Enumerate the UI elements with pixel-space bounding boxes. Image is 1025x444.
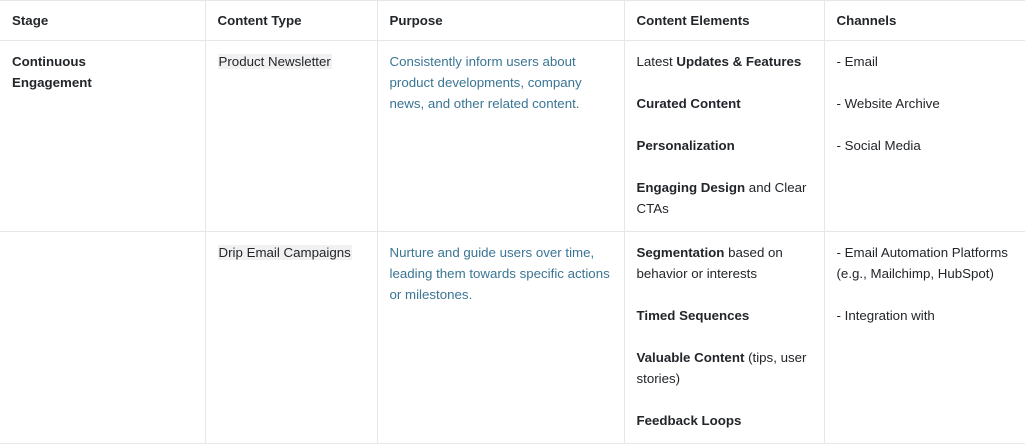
column-header-content-type: Content Type [205, 1, 377, 41]
list-item: Personalization [637, 135, 814, 156]
stage-line-1: Continuous [12, 51, 195, 72]
element-bold: Segmentation [637, 245, 725, 260]
purpose-text: Nurture and guide users over time, leadi… [390, 245, 610, 302]
cell-channels: - Email - Website Archive - Social Media [824, 41, 1025, 232]
content-elements-list: Latest Updates & Features Curated Conten… [637, 51, 814, 219]
element-bold: Feedback Loops [637, 413, 742, 428]
stage-line-2: Engagement [12, 72, 195, 93]
list-item: Feedback Loops [637, 410, 814, 431]
table-row: Drip Email Campaigns Nurture and guide u… [0, 232, 1025, 444]
cell-content-type: Drip Email Campaigns [205, 232, 377, 444]
column-header-purpose-label: Purpose [390, 13, 443, 28]
column-header-content-elements: Content Elements [624, 1, 824, 41]
list-item: - Website Archive [837, 93, 1015, 114]
cell-stage: Continuous Engagement [0, 41, 205, 232]
list-item: - Email Automation Platforms (e.g., Mail… [837, 242, 1015, 284]
element-bold: Engaging Design [637, 180, 746, 195]
column-header-channels: Channels [824, 1, 1025, 41]
table-body: Continuous Engagement Product Newsletter… [0, 41, 1025, 444]
cell-content-elements: Segmentation based on behavior or intere… [624, 232, 824, 444]
table-row: Continuous Engagement Product Newsletter… [0, 41, 1025, 232]
channels-list: - Email - Website Archive - Social Media [837, 51, 1015, 156]
list-item: Valuable Content (tips, user stories) [637, 347, 814, 389]
list-item: Latest Updates & Features [637, 51, 814, 72]
column-header-channels-label: Channels [837, 13, 897, 28]
element-bold: Valuable Content [637, 350, 745, 365]
column-header-stage-label: Stage [12, 13, 48, 28]
content-elements-list: Segmentation based on behavior or intere… [637, 242, 814, 431]
content-type-value: Product Newsletter [218, 54, 332, 69]
table-header: Stage Content Type Purpose Content Eleme… [0, 1, 1025, 41]
table-header-row: Stage Content Type Purpose Content Eleme… [0, 1, 1025, 41]
element-lead: Latest [637, 54, 677, 69]
list-item: Segmentation based on behavior or intere… [637, 242, 814, 284]
list-item: - Integration with [837, 305, 1015, 326]
cell-stage [0, 232, 205, 444]
element-bold: Personalization [637, 138, 735, 153]
element-bold: Updates & Features [676, 54, 801, 69]
list-item: - Email [837, 51, 1015, 72]
cell-content-type: Product Newsletter [205, 41, 377, 232]
list-item: Engaging Design and Clear CTAs [637, 177, 814, 219]
cell-channels: - Email Automation Platforms (e.g., Mail… [824, 232, 1025, 444]
column-header-content-type-label: Content Type [218, 13, 302, 28]
element-bold: Timed Sequences [637, 308, 750, 323]
content-strategy-table: Stage Content Type Purpose Content Eleme… [0, 0, 1025, 444]
list-item: Timed Sequences [637, 305, 814, 326]
cell-purpose: Consistently inform users about product … [377, 41, 624, 232]
channels-list: - Email Automation Platforms (e.g., Mail… [837, 242, 1015, 326]
purpose-text: Consistently inform users about product … [390, 54, 582, 111]
content-type-value: Drip Email Campaigns [218, 245, 352, 260]
column-header-content-elements-label: Content Elements [637, 13, 750, 28]
column-header-purpose: Purpose [377, 1, 624, 41]
cell-purpose: Nurture and guide users over time, leadi… [377, 232, 624, 444]
list-item: - Social Media [837, 135, 1015, 156]
column-header-stage: Stage [0, 1, 205, 41]
element-bold: Curated Content [637, 96, 741, 111]
list-item: Curated Content [637, 93, 814, 114]
cell-content-elements: Latest Updates & Features Curated Conten… [624, 41, 824, 232]
